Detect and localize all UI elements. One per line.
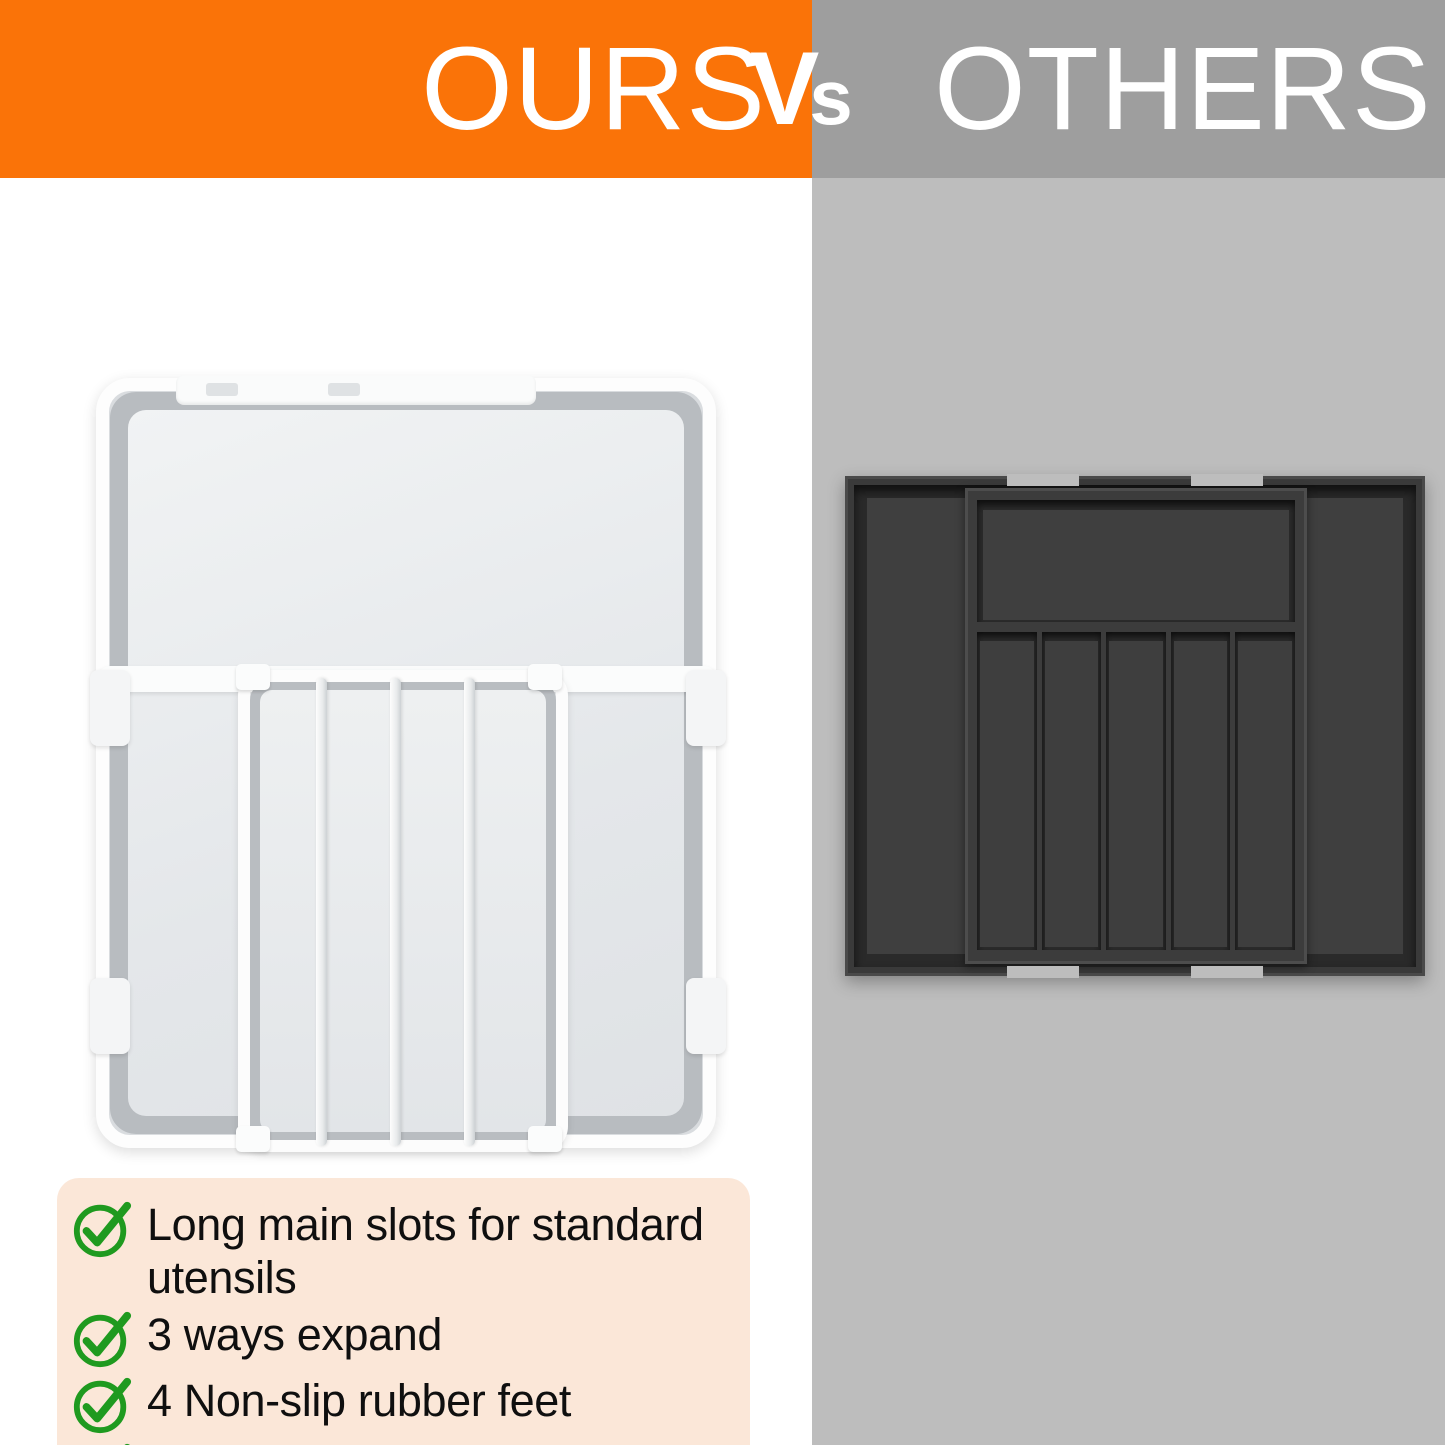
- organizer-clip: [528, 1126, 562, 1152]
- ours-features-box: Long main slots for standard utensils 3 …: [57, 1178, 750, 1445]
- header-banner: OURS OTHERS Vs: [0, 0, 1445, 178]
- tray-rim-notch: [1007, 474, 1079, 486]
- feature-label: 3 ways expand: [147, 1306, 442, 1361]
- organizer-rubber-foot: [686, 978, 726, 1054]
- tray-slot: [1042, 632, 1102, 950]
- green-check-circle-icon: [71, 1374, 133, 1436]
- organizer-slot-divider: [316, 678, 327, 1146]
- feature-row: 4 Non-slip rubber feet: [71, 1372, 736, 1436]
- ours-panel: Long main slots for standard utensils 3 …: [0, 178, 812, 1445]
- tray-slot: [1171, 632, 1231, 950]
- organizer-clip: [528, 664, 562, 690]
- organizer-rail-tab: [206, 383, 238, 396]
- organizer-rubber-foot: [686, 670, 726, 746]
- organizer-slot-divider: [464, 678, 475, 1146]
- tray-slot: [977, 632, 1037, 950]
- feature-label: Long main slots for standard utensils: [147, 1196, 736, 1304]
- organizer-slot-cage: [238, 670, 568, 1152]
- green-check-circle-icon: [71, 1308, 133, 1370]
- feature-row: Unique groove design: [71, 1438, 736, 1445]
- tray-slot-row: [977, 632, 1295, 950]
- feature-label: 4 Non-slip rubber feet: [147, 1372, 571, 1427]
- black-tray-product-image: [845, 476, 1425, 976]
- green-check-circle-icon: [71, 1440, 133, 1445]
- comparison-infographic: OURS OTHERS Vs: [0, 0, 1445, 1445]
- organizer-clip: [236, 664, 270, 690]
- tray-rim-notch: [1007, 966, 1079, 978]
- others-panel: Short main slots 2 ways expand: [812, 178, 1445, 1445]
- white-organizer-product-image: [88, 378, 728, 1163]
- tray-rim-notch: [1191, 966, 1263, 978]
- organizer-rubber-foot: [90, 670, 130, 746]
- tray-rim-notch: [1191, 474, 1263, 486]
- organizer-slot-divider: [390, 678, 401, 1146]
- header-others-section: OTHERS: [812, 0, 1445, 178]
- tray-slot: [1106, 632, 1166, 950]
- header-ours-title: OURS: [421, 30, 766, 148]
- feature-label: Unique groove design: [147, 1438, 577, 1445]
- vs-letter-s: s: [809, 53, 852, 141]
- header-ours-section: OURS: [0, 0, 812, 178]
- header-vs-label: Vs: [750, 37, 853, 141]
- organizer-clip: [236, 1126, 270, 1152]
- feature-row: Long main slots for standard utensils: [71, 1196, 736, 1304]
- tray-slot: [1235, 632, 1295, 950]
- header-others-title: OTHERS: [934, 30, 1432, 148]
- tray-top-compartment-floor: [983, 510, 1289, 620]
- green-check-circle-icon: [71, 1198, 133, 1260]
- organizer-rubber-foot: [90, 978, 130, 1054]
- feature-row: 3 ways expand: [71, 1306, 736, 1370]
- tray-left-well: [867, 498, 969, 954]
- organizer-rail-tab: [328, 383, 360, 396]
- tray-right-well: [1301, 498, 1403, 954]
